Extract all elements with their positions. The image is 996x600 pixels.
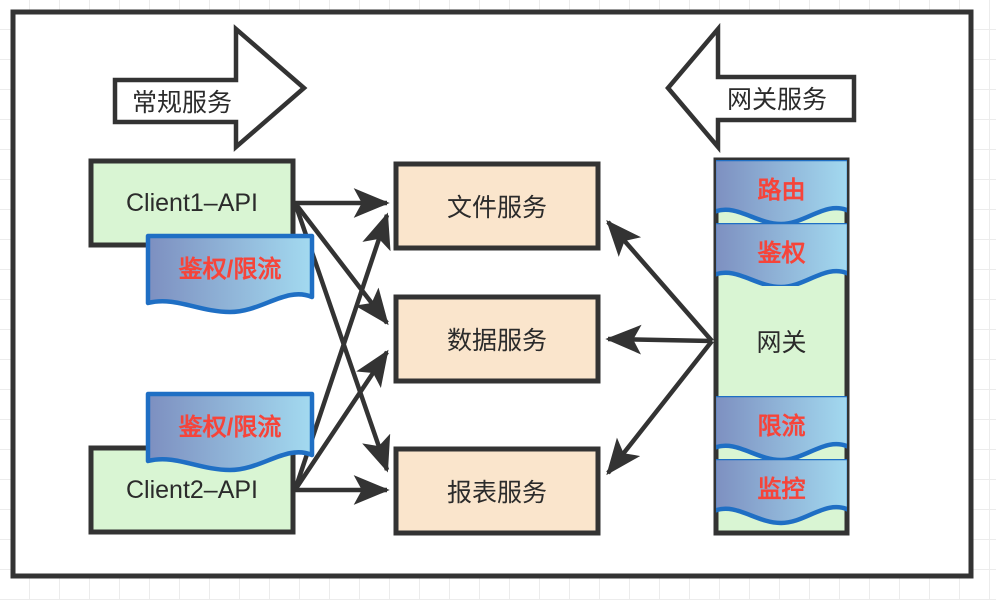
architecture-diagram [0, 0, 996, 600]
client-box-client1[interactable] [91, 161, 293, 245]
connector-gateway-data [608, 339, 712, 341]
service-box-file-service[interactable] [396, 164, 598, 248]
service-box-data-service[interactable] [396, 297, 598, 381]
diagram-canvas: 常规服务 网关服务 Client1–API Client2–API 鉴权/限流 … [0, 0, 996, 600]
service-box-report-service[interactable] [396, 449, 598, 533]
